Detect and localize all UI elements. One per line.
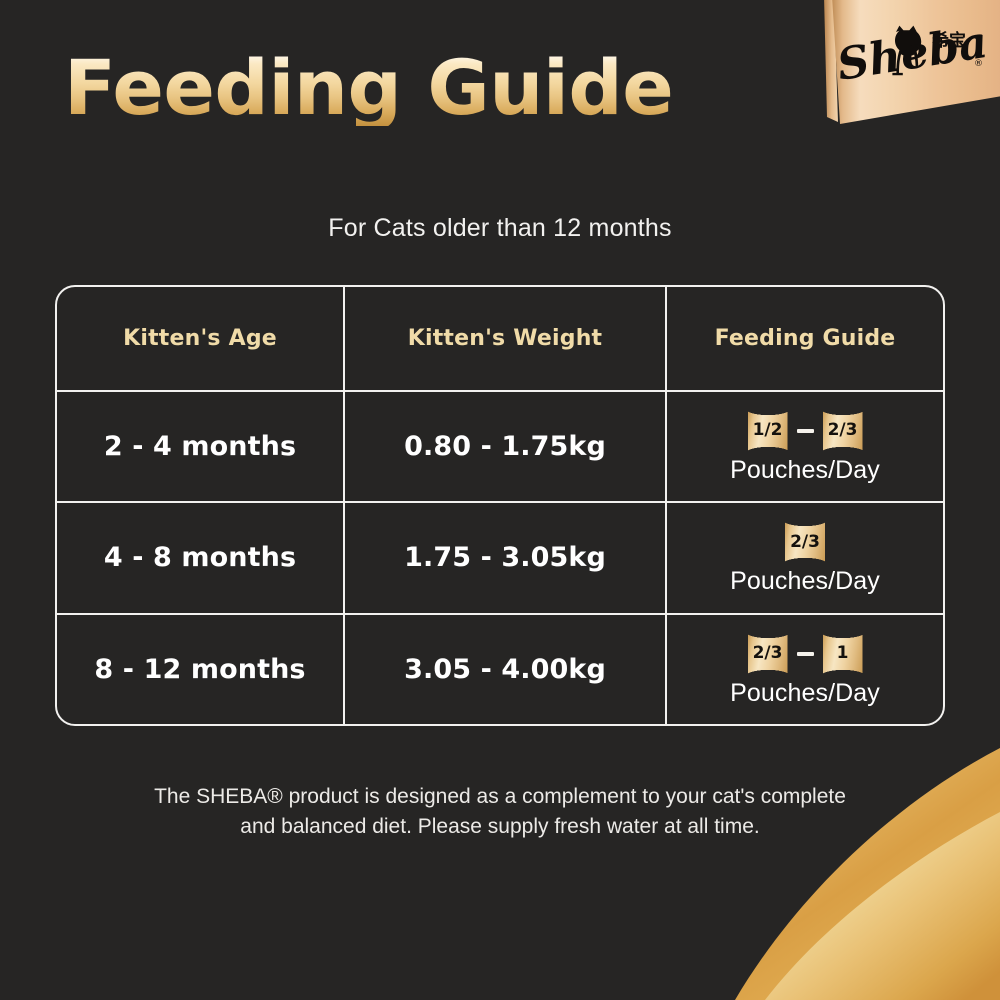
disclaimer-line-2: and balanced diet. Please supply fresh w… xyxy=(90,812,910,842)
pouch-fraction: 2/3 xyxy=(753,645,783,662)
cell-age: 2 - 4 months xyxy=(57,392,343,501)
pouch-fraction: 2/3 xyxy=(790,534,820,551)
gold-corner-decoration xyxy=(560,700,1000,1000)
pouch-row: 2/3 1 xyxy=(748,631,863,677)
pouch-row: 2/3 xyxy=(785,519,825,565)
disclaimer-line-1: The SHEBA® product is designed as a comp… xyxy=(90,782,910,812)
pouches-per-day-label: Pouches/Day xyxy=(730,679,880,708)
pouch-fraction: 1 xyxy=(837,645,849,662)
range-dash-icon xyxy=(797,429,814,433)
cell-feeding-guide: 2/3 Pouches/Day xyxy=(667,503,943,612)
table-row: 8 - 12 months 3.05 - 4.00kg 2/3 1 Pouche… xyxy=(57,613,943,724)
table-row: 4 - 8 months 1.75 - 3.05kg 2/3 Pouches/D… xyxy=(57,501,943,612)
cell-weight: 0.80 - 1.75kg xyxy=(343,392,667,501)
column-header-weight: Kitten's Weight xyxy=(343,287,667,390)
cell-feeding-guide: 2/3 1 Pouches/Day xyxy=(667,615,943,724)
pouch-icon: 2/3 xyxy=(785,520,825,564)
page-subtitle: For Cats older than 12 months xyxy=(0,214,1000,243)
pouch-icon: 1/2 xyxy=(748,409,788,453)
feeding-guide-page: 希宝 Sheba ® Feeding Guide For Cats older … xyxy=(0,0,1000,1000)
range-dash-icon xyxy=(797,652,814,656)
cell-feeding-guide: 1/2 2/3 Pouches/Day xyxy=(667,392,943,501)
pouches-per-day-label: Pouches/Day xyxy=(730,567,880,596)
cell-weight: 3.05 - 4.00kg xyxy=(343,615,667,724)
pouch-icon: 2/3 xyxy=(823,409,863,453)
svg-text:®: ® xyxy=(974,59,983,69)
pouch-icon: 2/3 xyxy=(748,632,788,676)
cell-weight: 1.75 - 3.05kg xyxy=(343,503,667,612)
table-header-row: Kitten's Age Kitten's Weight Feeding Gui… xyxy=(57,287,943,390)
pouches-per-day-label: Pouches/Day xyxy=(730,456,880,485)
pouch-fraction: 2/3 xyxy=(828,422,858,439)
pouch-row: 1/2 2/3 xyxy=(748,408,863,454)
pouch-fraction: 1/2 xyxy=(753,422,783,439)
feeding-guide-table: Kitten's Age Kitten's Weight Feeding Gui… xyxy=(55,285,945,726)
page-title: Feeding Guide xyxy=(64,50,673,126)
sheba-brand-banner: 希宝 Sheba ® xyxy=(818,0,1000,128)
table-row: 2 - 4 months 0.80 - 1.75kg 1/2 2/3 Pouch… xyxy=(57,390,943,501)
cell-age: 8 - 12 months xyxy=(57,615,343,724)
column-header-guide: Feeding Guide xyxy=(667,287,943,390)
gold-swoosh-graphic xyxy=(560,700,1000,1000)
brand-banner-graphic: 希宝 Sheba ® xyxy=(818,0,1000,128)
pouch-icon: 1 xyxy=(823,632,863,676)
cell-age: 4 - 8 months xyxy=(57,503,343,612)
disclaimer-text: The SHEBA® product is designed as a comp… xyxy=(90,782,910,842)
column-header-age: Kitten's Age xyxy=(57,287,343,390)
